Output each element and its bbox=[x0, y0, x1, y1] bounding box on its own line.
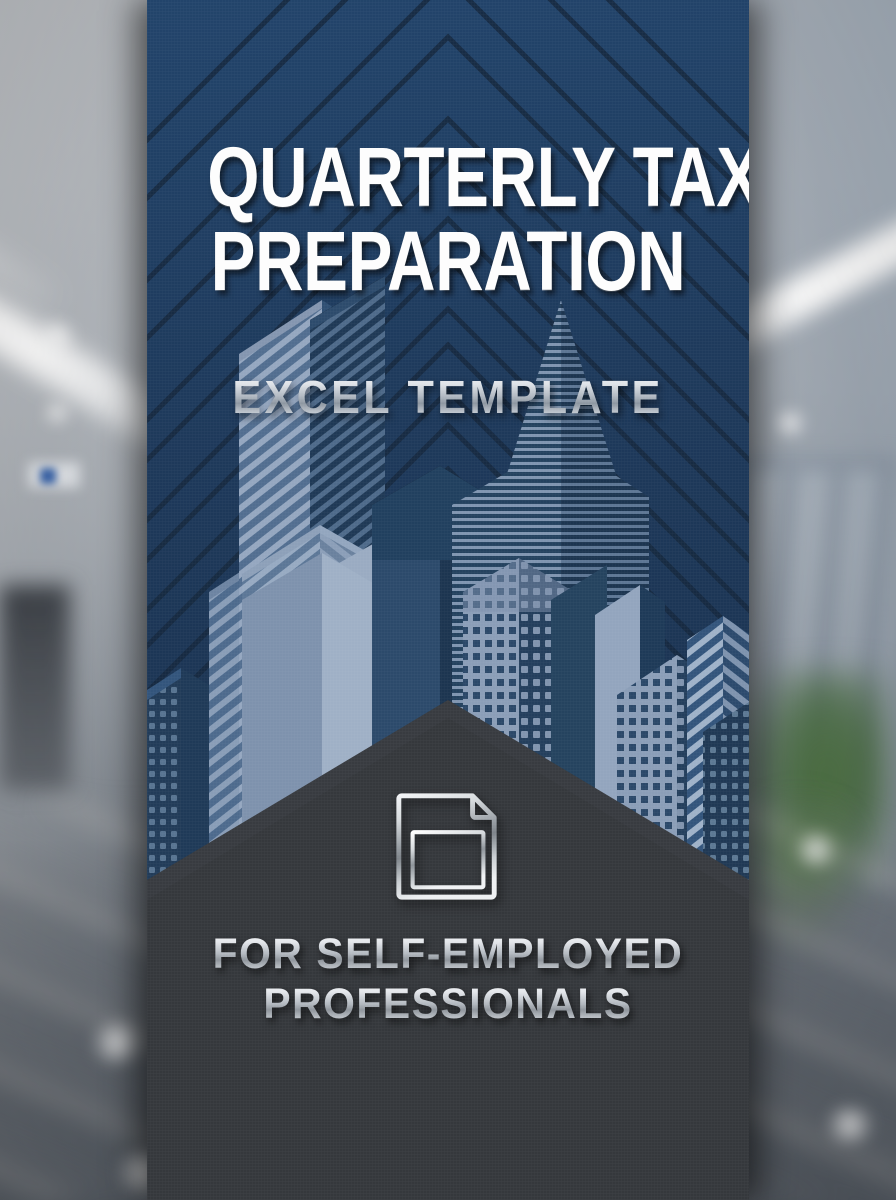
poster-card: QUARTERLY TAX PREPARATION EXCEL TEMPLATE bbox=[147, 0, 749, 1200]
title-line-1: QUARTERLY TAX bbox=[207, 136, 689, 218]
poster-title: QUARTERLY TAX PREPARATION bbox=[147, 136, 749, 303]
poster-subtitle: EXCEL TEMPLATE bbox=[165, 370, 731, 424]
footer-line-1: FOR SELF-EMPLOYED bbox=[162, 930, 734, 980]
footer-line-2: PROFESSIONALS bbox=[162, 980, 734, 1030]
spreadsheet-document-icon bbox=[389, 786, 507, 904]
poster-footer: FOR SELF-EMPLOYED PROFESSIONALS bbox=[147, 930, 749, 1030]
title-line-2: PREPARATION bbox=[207, 220, 689, 302]
